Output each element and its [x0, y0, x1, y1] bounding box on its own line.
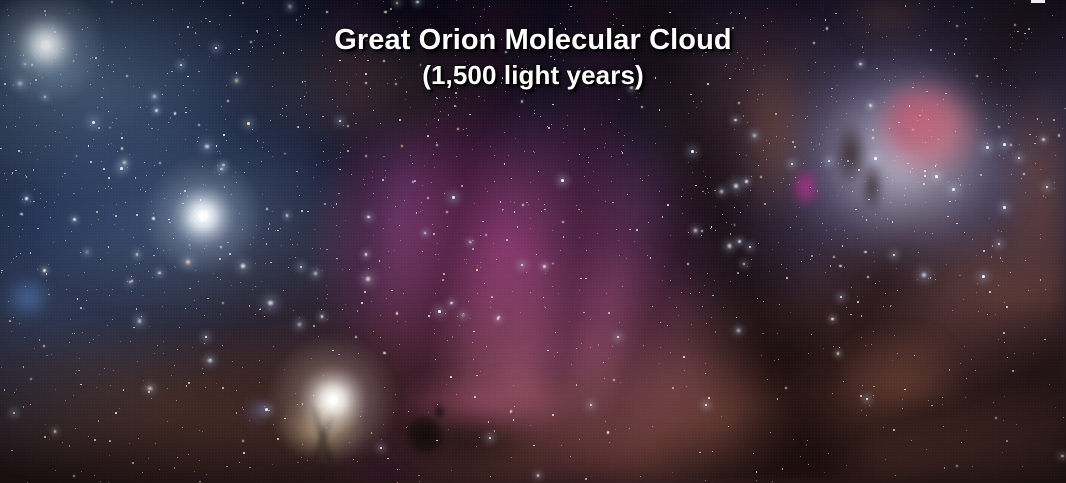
video-frame: Great Orion Molecular Cloud (1,500 light… — [0, 0, 1066, 483]
caption-subtitle: (1,500 light years) — [0, 62, 1066, 89]
caption-title: Great Orion Molecular Cloud — [0, 26, 1066, 56]
top-edge-marker — [1031, 0, 1045, 3]
caption-overlay: Great Orion Molecular Cloud (1,500 light… — [0, 26, 1066, 89]
